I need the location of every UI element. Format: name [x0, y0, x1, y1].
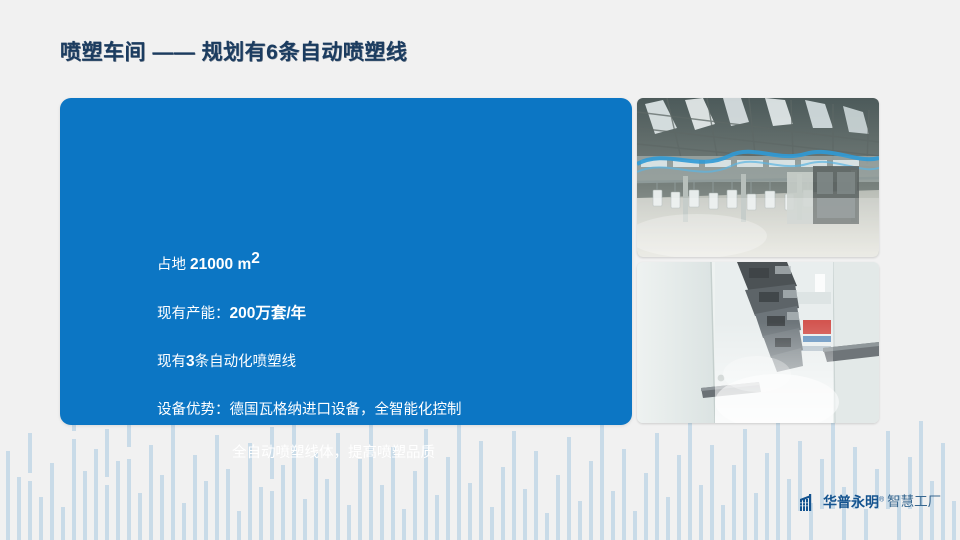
- decorative-bar: [545, 513, 549, 540]
- decorative-bar: [226, 469, 230, 540]
- decorative-bar: [138, 493, 142, 540]
- decorative-bar: [171, 425, 175, 540]
- info-line-2-prefix: 现有产能：: [157, 306, 230, 322]
- decorative-bar: [402, 509, 406, 540]
- decorative-bar: [292, 419, 296, 540]
- decorative-bar: [919, 421, 923, 540]
- decorative-bar: [6, 451, 10, 540]
- decorative-bar: [479, 441, 483, 540]
- decorative-bar: [468, 483, 472, 540]
- info-line-3-prefix: 现有: [157, 354, 186, 370]
- workshop-photo-graphic: [637, 98, 879, 257]
- decorative-bar: [776, 417, 780, 540]
- info-line-3-suffix: 条自动化喷塑线: [195, 354, 297, 370]
- decorative-bar: [457, 421, 461, 540]
- logo-tagline: 智慧工厂: [887, 495, 941, 509]
- decorative-bar: [303, 499, 307, 540]
- decorative-bar: [567, 437, 571, 540]
- decorative-bar: [732, 465, 736, 540]
- decorative-bar: [116, 461, 120, 540]
- decorative-bar: [127, 459, 131, 540]
- decorative-bar: [314, 453, 318, 540]
- info-line-1-prefix: 占地: [157, 257, 190, 273]
- decorative-bar: [556, 475, 560, 540]
- decorative-bar: [721, 505, 725, 540]
- info-line-1-unit: m: [237, 256, 251, 273]
- decorative-bar: [864, 509, 868, 540]
- decorative-bar: [347, 505, 351, 540]
- page-title: 喷塑车间 —— 规划有6条自动喷塑线: [60, 36, 407, 66]
- decorative-bar: [523, 489, 527, 540]
- decorative-bar: [534, 451, 538, 540]
- decorative-bar: [380, 485, 384, 540]
- decorative-bar: [743, 429, 747, 540]
- decorative-bar: [160, 475, 164, 540]
- decorative-bar: [677, 455, 681, 540]
- decorative-bar: [204, 481, 208, 540]
- brand-logo: 华普永明® 智慧工厂: [800, 491, 941, 513]
- spray-booth-photo: [637, 262, 879, 423]
- decorative-bar: [358, 459, 362, 540]
- info-panel: 占地 21000 m2 现有产能：200万套/年 现有3条自动化喷塑线 设备优势…: [60, 98, 632, 425]
- decorative-bar: [28, 481, 32, 540]
- decorative-bar: [105, 485, 109, 540]
- factory-building-icon: [800, 494, 819, 511]
- decorative-bar: [644, 473, 648, 540]
- decorative-bar: [39, 497, 43, 540]
- decorative-bar: [72, 439, 76, 540]
- info-line-land-area: 占地 21000 m2: [157, 257, 260, 273]
- decorative-bar: [182, 503, 186, 540]
- decorative-bar: [215, 435, 219, 540]
- logo-company-text: 华普永明: [823, 494, 879, 510]
- info-line-capacity: 现有产能：200万套/年: [157, 306, 306, 322]
- decorative-bar: [666, 497, 670, 540]
- registered-mark: ®: [879, 496, 884, 503]
- decorative-bar: [754, 493, 758, 540]
- info-line-3-value: 3: [186, 353, 195, 370]
- info-line-4-text: 设备优势：德国瓦格纳进口设备，全智能化控制: [157, 402, 462, 418]
- decorative-bar: [446, 457, 450, 540]
- decorative-bar: [50, 463, 54, 540]
- decorative-bar: [688, 419, 692, 540]
- decorative-bar: [435, 495, 439, 540]
- decorative-bar: [611, 491, 615, 540]
- info-line-1-value: 21000: [190, 256, 237, 273]
- decorative-bar: [589, 461, 593, 540]
- info-line-quality: 全自动喷塑线体，提高喷塑品质: [232, 446, 435, 461]
- decorative-bar: [765, 453, 769, 540]
- decorative-bar: [149, 445, 153, 540]
- decorative-bar: [941, 443, 945, 540]
- decorative-bar: [787, 479, 791, 540]
- decorative-bar: [413, 471, 417, 540]
- decorative-bar: [622, 449, 626, 540]
- decorative-bar: [325, 479, 329, 540]
- decorative-bar: [61, 507, 65, 540]
- decorative-bar: [28, 433, 32, 473]
- decorative-bar: [952, 501, 956, 540]
- decorative-bar: [699, 485, 703, 540]
- info-line-1-unit-exponent: 2: [251, 250, 260, 267]
- info-line-existing-lines: 现有3条自动化喷塑线: [157, 354, 296, 370]
- decorative-bar: [512, 431, 516, 540]
- decorative-bar: [17, 477, 21, 540]
- decorative-bar: [237, 511, 241, 540]
- info-line-equipment-advantage: 设备优势：德国瓦格纳进口设备，全智能化控制: [157, 403, 462, 418]
- info-line-2-value: 200万套/年: [230, 305, 307, 322]
- decorative-bar: [270, 491, 274, 540]
- logo-company-name: 华普永明®: [823, 495, 884, 509]
- decorative-bar: [633, 511, 637, 540]
- decorative-bar: [600, 425, 604, 540]
- powder-coating-workshop-photo: [637, 98, 879, 257]
- decorative-bar: [259, 487, 263, 540]
- decorative-bar: [710, 445, 714, 540]
- decorative-bar: [193, 455, 197, 540]
- decorative-bar: [655, 433, 659, 540]
- decorative-bar: [105, 429, 109, 477]
- decorative-bar: [490, 507, 494, 540]
- decorative-bar: [281, 465, 285, 540]
- spray-booth-photo-graphic: [637, 262, 879, 423]
- decorative-bar: [369, 423, 373, 540]
- vertical-bars-pattern: [0, 415, 960, 540]
- decorative-bar: [501, 467, 505, 540]
- decorative-bar: [578, 501, 582, 540]
- info-line-5-text: 全自动喷塑线体，提高喷塑品质: [232, 445, 435, 461]
- decorative-bar: [94, 449, 98, 540]
- decorative-bar: [83, 471, 87, 540]
